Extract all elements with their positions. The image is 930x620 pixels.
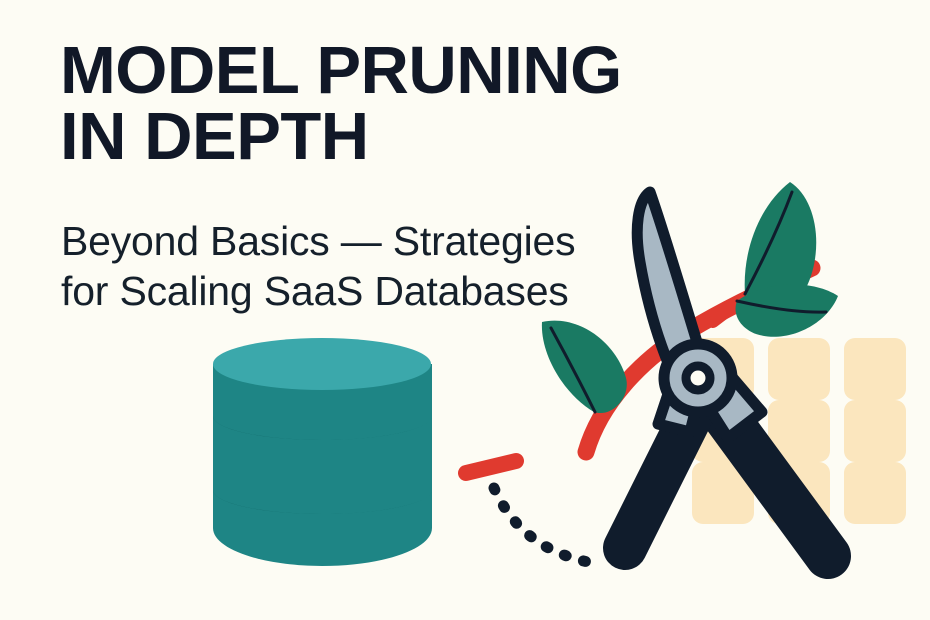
grid-square [844,400,906,462]
grid-square [844,338,906,400]
poster-canvas: MODEL PRUNING IN DEPTH Beyond Basics — S… [0,0,930,620]
grid-square [844,462,906,524]
shear-pivot-bolt [686,366,710,390]
database-cylinder [213,338,432,566]
cylinder-top-cap [213,338,431,390]
grid-square [768,338,830,400]
illustration-artwork [0,0,930,620]
